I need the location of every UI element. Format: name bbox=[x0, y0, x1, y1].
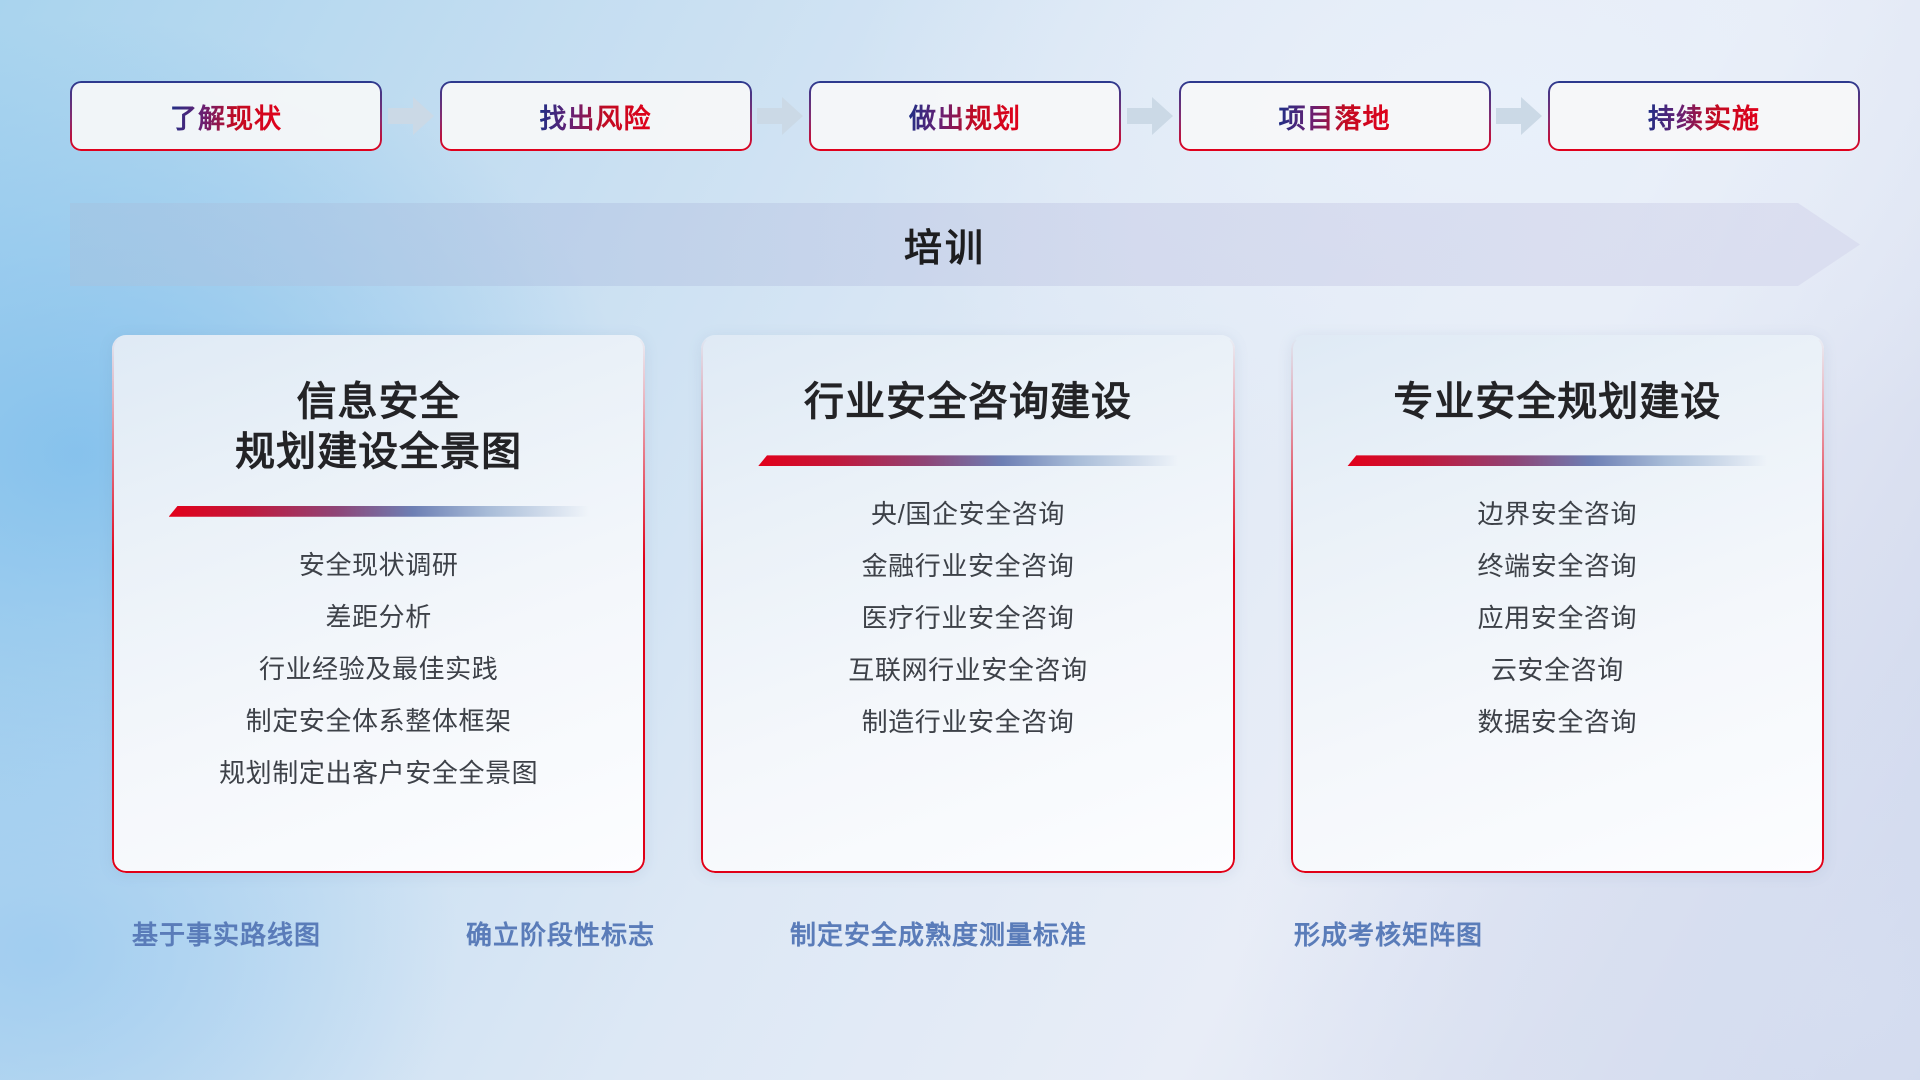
list-item: 医疗行业安全咨询 bbox=[729, 592, 1206, 644]
caption-1: 基于事实路线图 bbox=[132, 915, 321, 952]
card-item-list: 央/国企安全咨询金融行业安全咨询医疗行业安全咨询互联网行业安全咨询制造行业安全咨… bbox=[729, 488, 1206, 748]
list-item: 云安全咨询 bbox=[1319, 644, 1796, 696]
process-step-label: 持续实施 bbox=[1648, 97, 1760, 136]
list-item: 行业经验及最佳实践 bbox=[140, 643, 617, 695]
process-step-2[interactable]: 找出风险 bbox=[440, 81, 752, 151]
process-step-label: 找出风险 bbox=[540, 97, 652, 136]
list-item: 安全现状调研 bbox=[140, 539, 617, 591]
card-item-list: 安全现状调研差距分析行业经验及最佳实践制定安全体系整体框架规划制定出客户安全全景… bbox=[140, 539, 617, 799]
process-step-label: 项目落地 bbox=[1279, 97, 1391, 136]
step-arrow-icon bbox=[1121, 96, 1179, 136]
list-item: 数据安全咨询 bbox=[1319, 696, 1796, 748]
content-card-3[interactable]: 专业安全规划建设边界安全咨询终端安全咨询应用安全咨询云安全咨询数据安全咨询 bbox=[1291, 335, 1824, 873]
list-item: 应用安全咨询 bbox=[1319, 592, 1796, 644]
caption-2: 确立阶段性标志 bbox=[466, 915, 655, 952]
list-item: 制定安全体系整体框架 bbox=[140, 695, 617, 747]
process-step-row: 了解现状找出风险做出规划项目落地持续实施 bbox=[70, 78, 1860, 154]
list-item: 制造行业安全咨询 bbox=[729, 696, 1206, 748]
card-divider bbox=[758, 455, 1178, 466]
step-arrow-icon bbox=[382, 96, 440, 136]
process-step-1[interactable]: 了解现状 bbox=[70, 81, 382, 151]
slide-canvas: 了解现状找出风险做出规划项目落地持续实施 培训 信息安全 规划建设全景图安全现状… bbox=[0, 0, 1920, 1080]
step-arrow-icon bbox=[1491, 96, 1549, 136]
card-row: 信息安全 规划建设全景图安全现状调研差距分析行业经验及最佳实践制定安全体系整体框… bbox=[112, 335, 1824, 873]
caption-4: 形成考核矩阵图 bbox=[1294, 915, 1483, 952]
process-step-label: 了解现状 bbox=[170, 97, 282, 136]
card-divider bbox=[169, 506, 589, 517]
list-item: 规划制定出客户安全全景图 bbox=[140, 747, 617, 799]
card-item-list: 边界安全咨询终端安全咨询应用安全咨询云安全咨询数据安全咨询 bbox=[1319, 488, 1796, 748]
banner-title: 培训 bbox=[70, 203, 1860, 286]
content-card-1[interactable]: 信息安全 规划建设全景图安全现状调研差距分析行业经验及最佳实践制定安全体系整体框… bbox=[112, 335, 645, 873]
list-item: 央/国企安全咨询 bbox=[729, 488, 1206, 540]
list-item: 边界安全咨询 bbox=[1319, 488, 1796, 540]
content-card-2[interactable]: 行业安全咨询建设央/国企安全咨询金融行业安全咨询医疗行业安全咨询互联网行业安全咨… bbox=[701, 335, 1234, 873]
card-divider bbox=[1347, 455, 1767, 466]
process-step-4[interactable]: 项目落地 bbox=[1179, 81, 1491, 151]
caption-3: 制定安全成熟度测量标准 bbox=[790, 915, 1087, 952]
card-title: 行业安全咨询建设 bbox=[804, 377, 1132, 427]
list-item: 差距分析 bbox=[140, 591, 617, 643]
step-arrow-icon bbox=[752, 96, 810, 136]
process-step-3[interactable]: 做出规划 bbox=[809, 81, 1121, 151]
card-title: 专业安全规划建设 bbox=[1393, 377, 1721, 427]
training-banner: 培训 bbox=[70, 203, 1860, 286]
list-item: 金融行业安全咨询 bbox=[729, 540, 1206, 592]
process-step-label: 做出规划 bbox=[909, 97, 1021, 136]
list-item: 互联网行业安全咨询 bbox=[729, 644, 1206, 696]
process-step-5[interactable]: 持续实施 bbox=[1548, 81, 1860, 151]
list-item: 终端安全咨询 bbox=[1319, 540, 1796, 592]
caption-row: 基于事实路线图确立阶段性标志制定安全成熟度测量标准形成考核矩阵图 bbox=[0, 915, 1920, 965]
card-title: 信息安全 规划建设全景图 bbox=[235, 377, 522, 478]
